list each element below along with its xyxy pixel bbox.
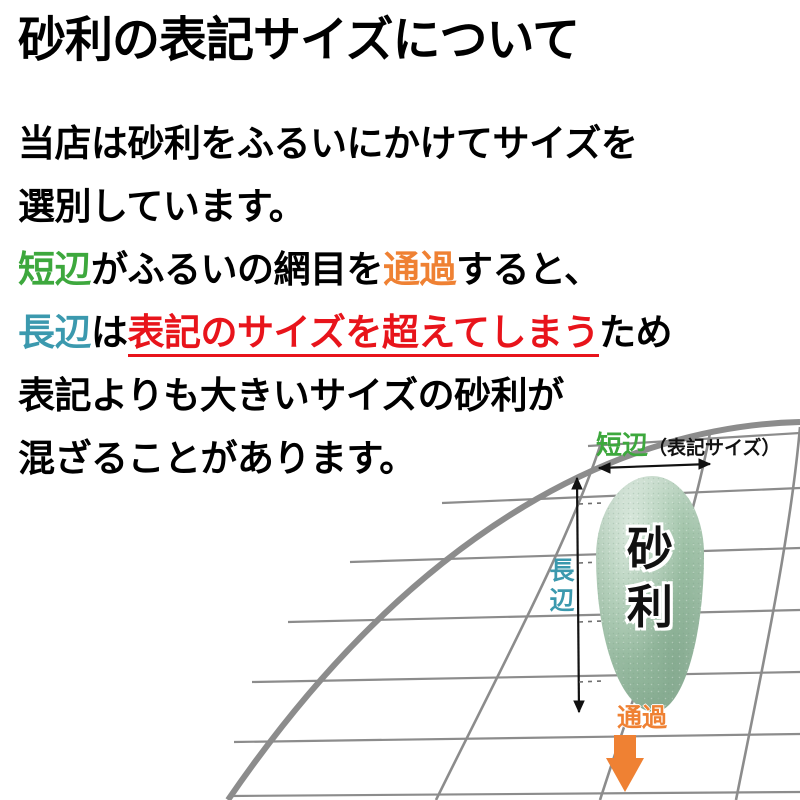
long-side-callout-char-1: 長 [547,556,577,586]
body-line-4-mid: は [91,312,128,353]
stone-label-char-1: 砂 [596,520,704,578]
body-line-3-tail: すると、 [456,249,601,290]
keyword-pass: 通過 [383,249,456,290]
body-line-2: 選別しています。 [18,175,788,238]
keyword-long-side: 長辺 [18,312,91,353]
stone-label: 砂 利 [596,520,704,636]
long-side-callout-char-2: 辺 [547,586,577,616]
short-side-callout-label: 短辺 [596,430,648,460]
infographic-page: 砂利の表記サイズについて 当店は砂利をふるいにかけてサイズを 選別しています。 … [0,0,800,800]
page-title: 砂利の表記サイズについて [18,16,579,66]
body-line-5: 表記よりも大きいサイズの砂利が [18,364,788,427]
stone-label-char-2: 利 [596,578,704,636]
pass-through-callout: 通過 [617,706,667,731]
keyword-short-side: 短辺 [18,249,91,290]
body-line-3-mid: がふるいの網目を [91,249,383,290]
long-side-callout: 長 辺 [547,556,577,616]
gravel-stone: 砂 利 [596,476,704,712]
short-side-callout-note: （表記サイズ） [648,438,780,459]
short-side-callout: 短辺（表記サイズ） [596,432,780,458]
pass-through-arrow [606,735,644,792]
body-line-1: 当店は砂利をふるいにかけてサイズを [18,112,788,175]
body-line-4: 長辺は表記のサイズを超えてしまうため [18,301,788,364]
body-line-4-tail: ため [599,312,672,353]
keyword-exceeds-size: 表記のサイズを超えてしまう [128,312,600,357]
body-line-3: 短辺がふるいの網目を通過すると、 [18,238,788,301]
